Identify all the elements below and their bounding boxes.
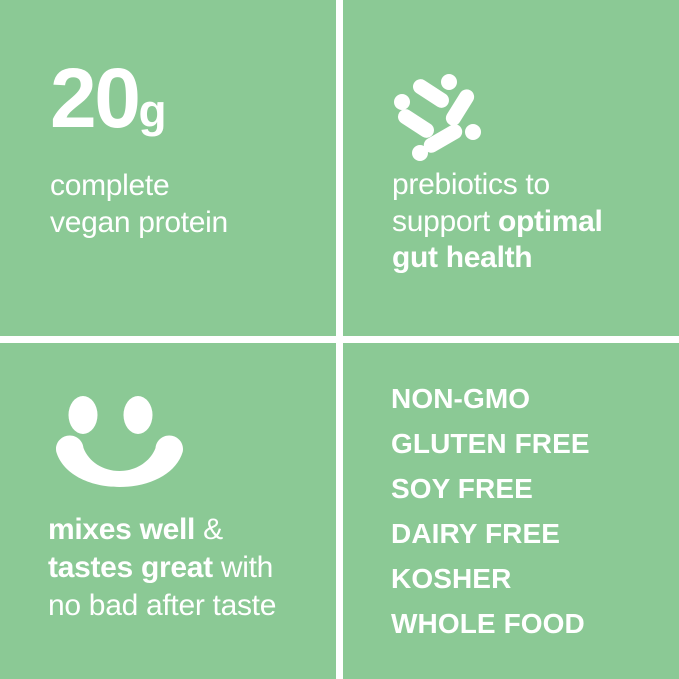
list-item: NON-GMO [391,385,590,413]
prebiotics-text-regular-2: support [392,205,498,238]
taste-caption: mixes well & tastes great with no bad af… [48,511,333,624]
list-item: GLUTEN FREE [391,430,590,458]
product-benefits-infographic: 20g complete vegan protein [0,0,679,679]
protein-stat-value: 20 [50,51,138,145]
list-item: KOSHER [391,565,590,593]
taste-text-regular-2: with [213,551,273,584]
taste-line3: no bad after taste [48,587,333,625]
prebiotics-caption: prebiotics to support optimal gut health [392,167,670,277]
prebiotics-line2: support optimal [392,204,670,241]
panel-prebiotics: prebiotics to support optimal gut health [343,0,679,336]
list-item: SOY FREE [391,475,590,503]
taste-text-bold-2: tastes great [48,551,213,584]
panel-protein: 20g complete vegan protein [0,0,336,336]
taste-text-bold-1: mixes well [48,513,195,546]
prebiotics-line1: prebiotics to [392,167,670,204]
protein-caption-line1: complete [50,168,228,205]
prebiotics-text-bold-1: optimal [498,205,603,238]
panel-claims: NON-GMO GLUTEN FREE SOY FREE DAIRY FREE … [343,343,679,679]
protein-stat-unit: g [138,85,165,137]
claims-list: NON-GMO GLUTEN FREE SOY FREE DAIRY FREE … [391,385,590,638]
protein-caption-line2: vegan protein [50,205,228,242]
smiley-face-icon [50,393,195,488]
taste-line1: mixes well & [48,511,333,549]
taste-line2: tastes great with [48,549,333,587]
prebiotics-text-regular-1: prebiotics to [392,168,550,201]
protein-caption: complete vegan protein [50,168,228,241]
microbiome-icon [392,74,484,164]
prebiotics-line3: gut health [392,240,670,277]
panel-taste: mixes well & tastes great with no bad af… [0,343,336,679]
taste-text-regular-3: no bad after taste [48,589,276,622]
list-item: DAIRY FREE [391,520,590,548]
prebiotics-text-bold-2: gut health [392,241,532,274]
divider-horizontal [0,336,679,343]
list-item: WHOLE FOOD [391,610,590,638]
taste-text-regular-1: & [195,513,223,546]
protein-stat: 20g [50,56,166,140]
